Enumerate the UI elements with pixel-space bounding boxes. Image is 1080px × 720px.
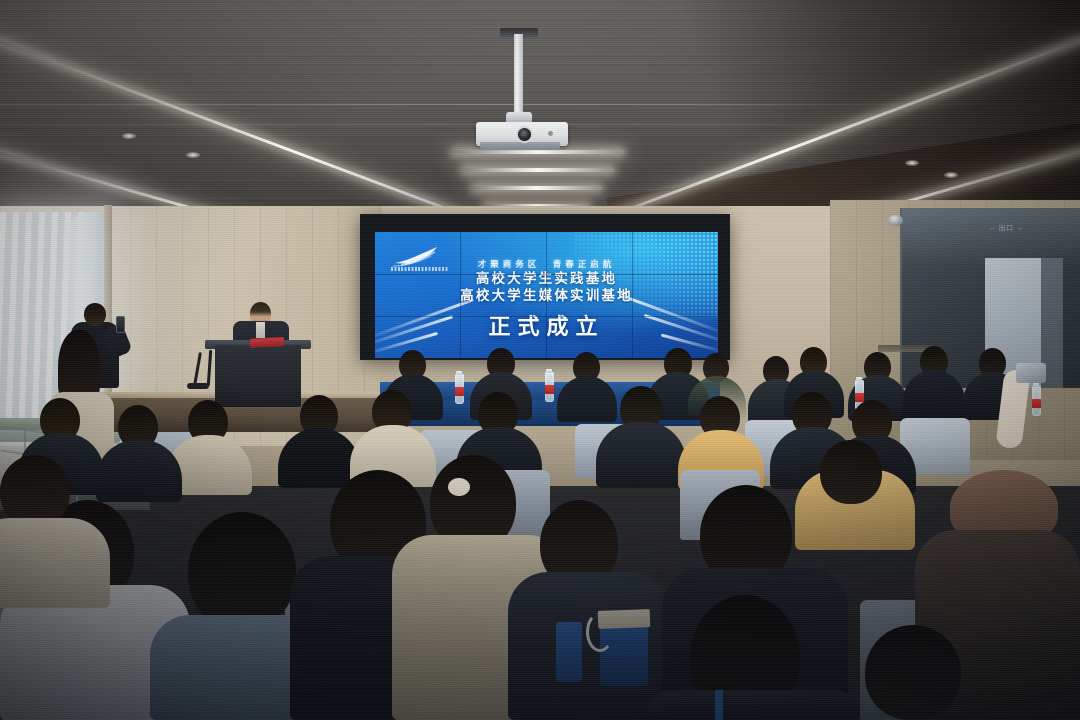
bottle-cap (1033, 383, 1039, 387)
smartphone-icon (116, 316, 125, 333)
panel-seam (632, 232, 633, 358)
panel-seam (375, 274, 718, 275)
speaker-shirt (256, 322, 265, 338)
hair-clip-icon (448, 478, 470, 496)
led-strip-light (462, 168, 614, 172)
bag-handle (586, 612, 614, 652)
dome-camera-icon (888, 215, 903, 226)
ceiling-downlight (122, 133, 136, 139)
water-bottle (545, 372, 554, 402)
audience-head (820, 440, 882, 504)
blue-bag-column (556, 622, 582, 682)
led-video-wall: 才聚商务区 青春正启航 高校大学生实践基地 高校大学生媒体实训基地 正式成立 (375, 232, 718, 358)
ceiling (0, 0, 1080, 232)
ceiling-downlight (186, 152, 200, 158)
audience-head (188, 512, 296, 630)
audience-shoulders (645, 690, 860, 720)
panel-seam (375, 316, 718, 317)
bottle-cap (856, 377, 862, 381)
panel-seam (546, 232, 547, 358)
led-strip-light (452, 150, 624, 154)
smartphone-icon (1016, 363, 1046, 383)
audience-shoulders (596, 422, 686, 488)
projector-underside (480, 142, 560, 150)
bottle-cap (546, 369, 552, 373)
bottle-cap (456, 371, 462, 375)
led-strip-light (472, 186, 602, 190)
projector-sensor-icon (548, 131, 553, 136)
audience-head (0, 455, 70, 527)
projector-mount-pole (514, 34, 523, 120)
panel-seam (460, 232, 461, 358)
lanyard (715, 690, 723, 720)
photographer-head (84, 303, 106, 326)
audience-head (865, 625, 961, 720)
water-bottle (1032, 386, 1041, 416)
ceiling-downlight (944, 172, 958, 178)
projector-lens-icon (516, 126, 533, 143)
red-folder (250, 337, 284, 348)
audience-shoulders (0, 518, 110, 608)
exit-sign: ← 出口 → (980, 221, 1032, 235)
ceiling-downlight (905, 160, 919, 166)
ceiling-shadow-right (660, 0, 1080, 232)
podium (215, 345, 301, 407)
conference-hall-photo: ← 出口 → 才聚商务区 青春正启航 高校大学生实践基地 (0, 0, 1080, 720)
microphone-base (187, 383, 209, 389)
water-bottle (455, 374, 464, 404)
